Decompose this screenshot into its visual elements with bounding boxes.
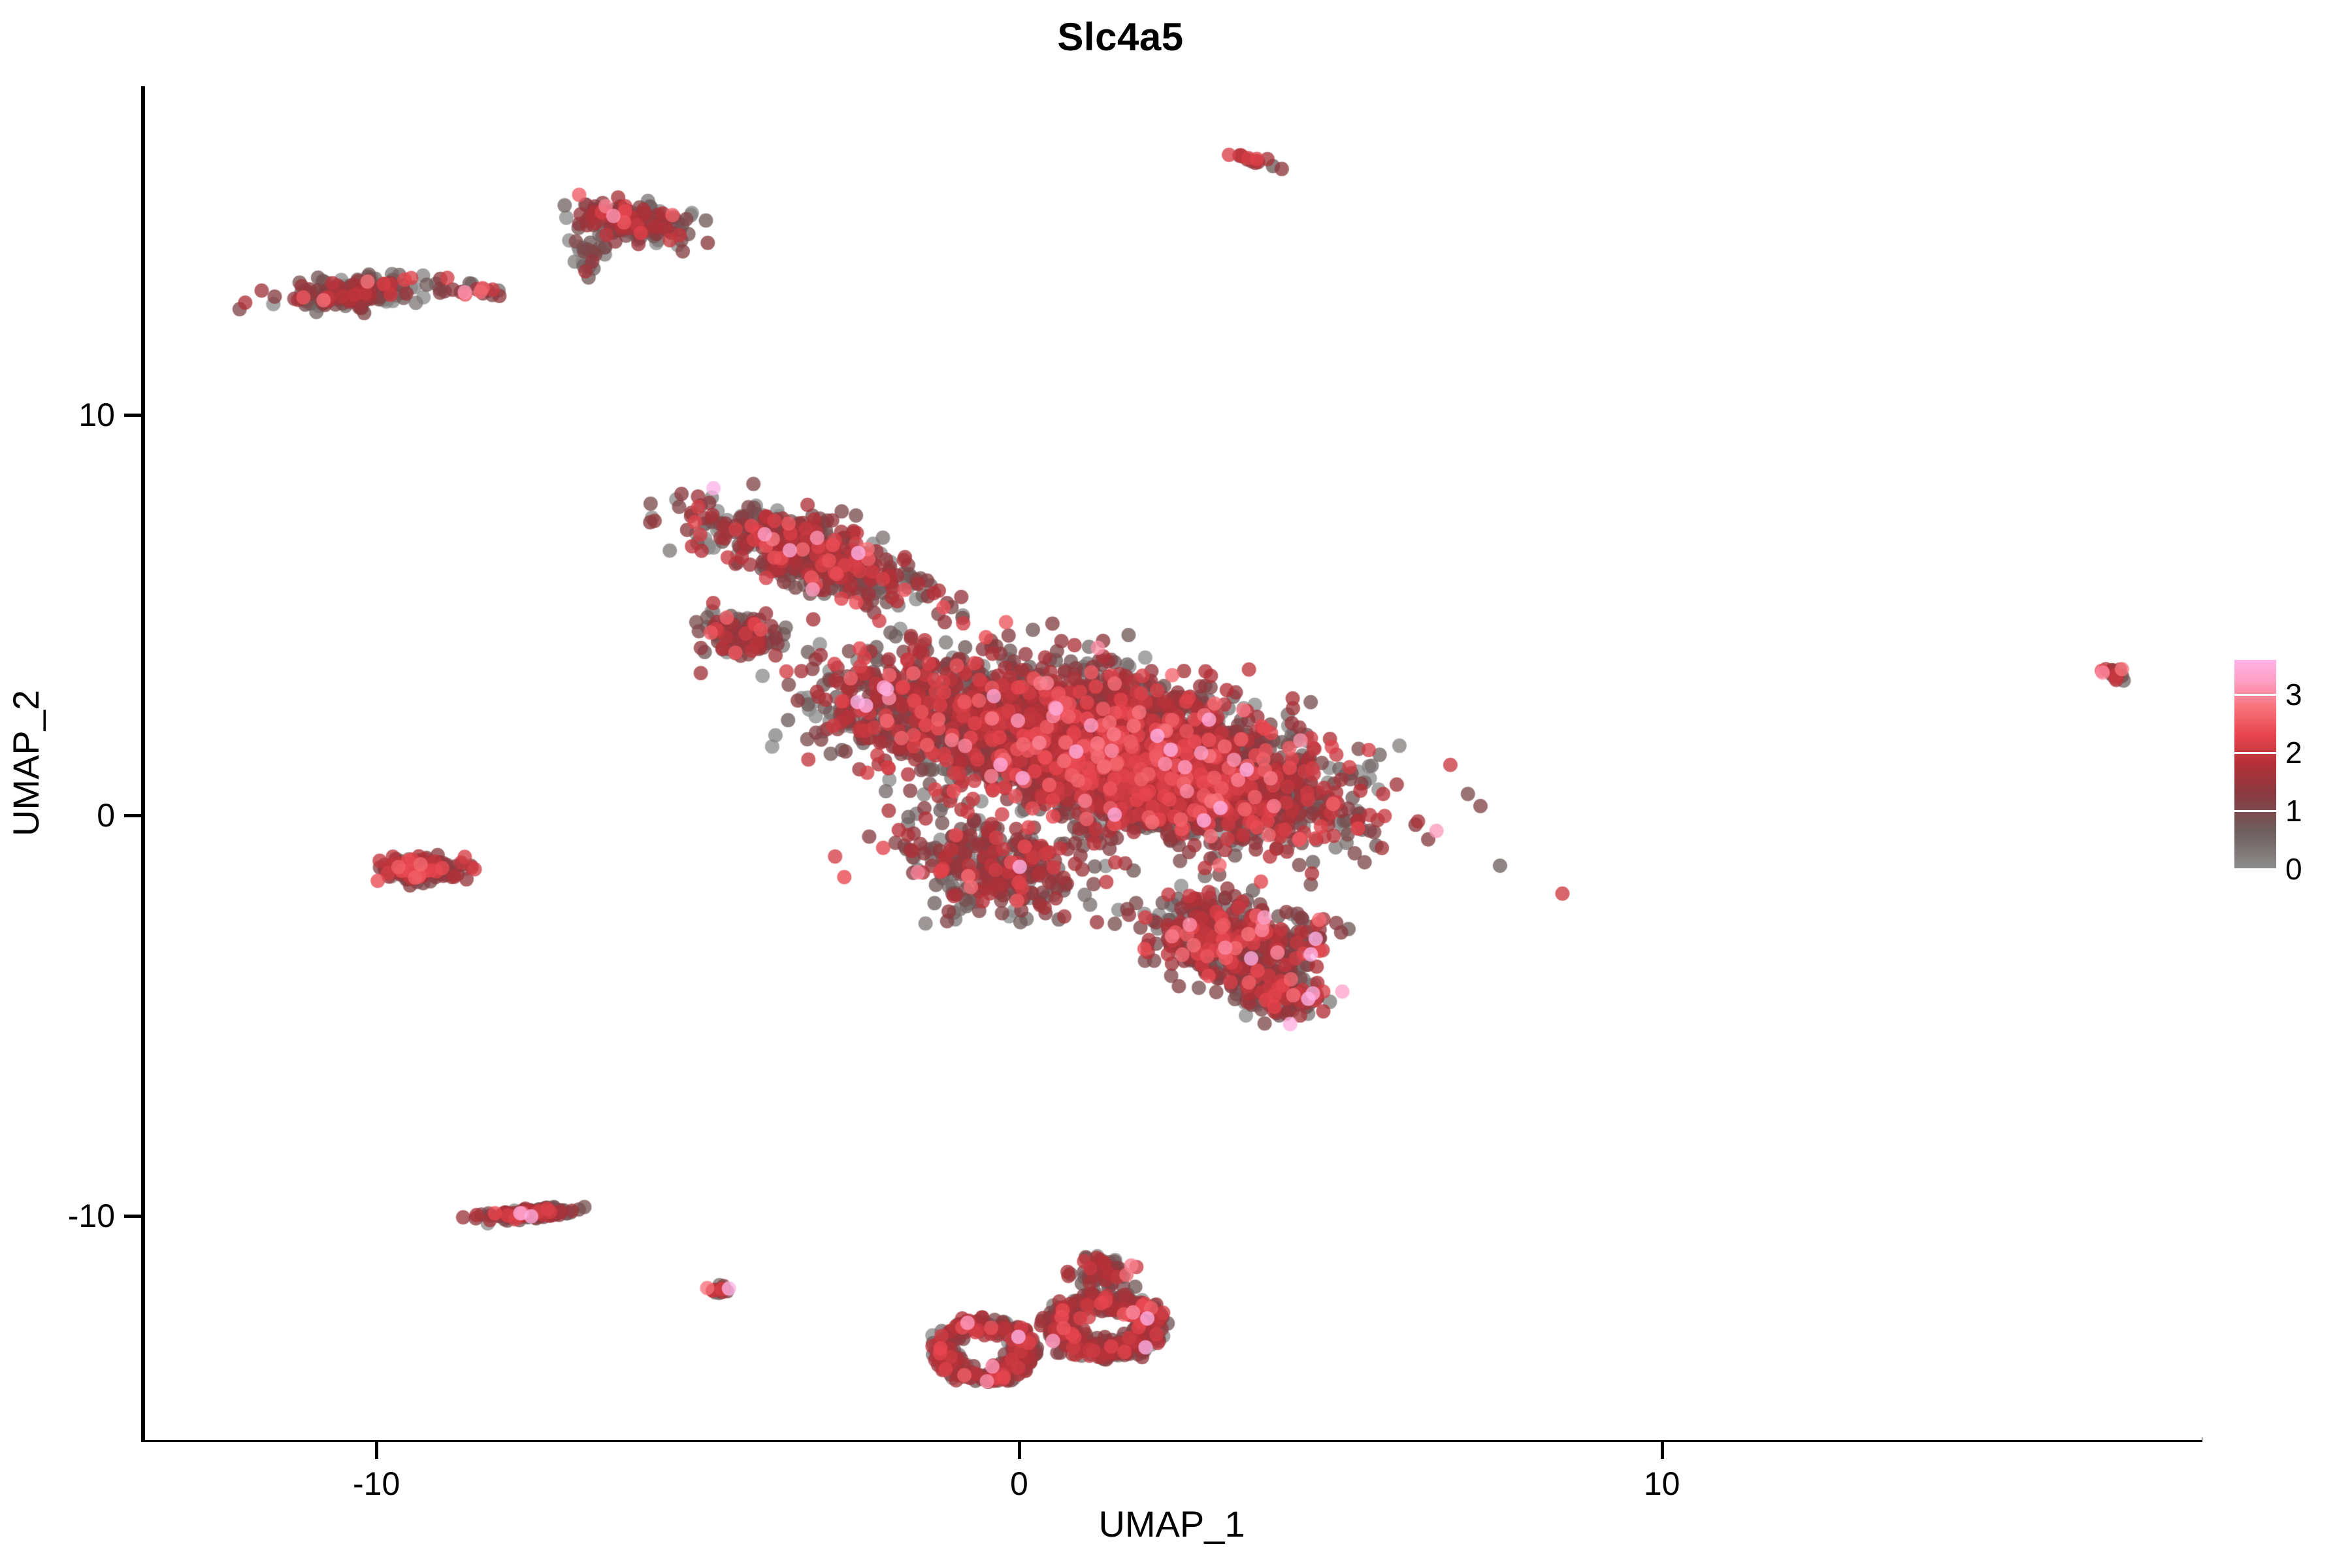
y-axis-label-wrapper: UMAP_2 <box>5 436 48 1090</box>
colorbar-tick-label: 0 <box>2285 852 2302 886</box>
colorbar-tick-label: 2 <box>2285 736 2302 770</box>
y-tick-label: -10 <box>0 1197 115 1235</box>
x-tick-label: 0 <box>934 1465 1104 1503</box>
colorbar-tick-label: 1 <box>2285 794 2302 828</box>
colorbar-tick-label: 3 <box>2285 678 2302 711</box>
x-axis-label: UMAP_1 <box>141 1503 2202 1546</box>
y-tick-mark <box>124 1215 141 1218</box>
colorbar-tick-mark <box>2234 868 2276 870</box>
y-tick-mark <box>124 814 141 817</box>
y-tick-mark <box>124 414 141 417</box>
colorbar-tick-mark <box>2234 752 2276 754</box>
colorbar-legend: 3210 <box>2234 660 2349 895</box>
colorbar-tick-mark <box>2234 694 2276 696</box>
plot-panel <box>145 86 2202 1440</box>
colorbar-tick-mark <box>2234 810 2276 812</box>
x-tick-label: -10 <box>291 1465 461 1503</box>
feature-plot-figure: Slc4a5 -10010 100-10 UMAP_1 UMAP_2 3210 <box>0 0 2352 1568</box>
page-title: Slc4a5 <box>0 14 2241 60</box>
colorbar-gradient <box>2234 660 2276 869</box>
x-tick-mark <box>375 1442 378 1459</box>
y-axis-label: UMAP_2 <box>5 690 46 836</box>
x-tick-mark <box>1661 1442 1664 1459</box>
x-tick-label: 10 <box>1577 1465 1747 1503</box>
y-tick-label: 10 <box>0 396 115 434</box>
x-tick-mark <box>1018 1442 1021 1459</box>
scatter-canvas <box>145 86 2202 1440</box>
